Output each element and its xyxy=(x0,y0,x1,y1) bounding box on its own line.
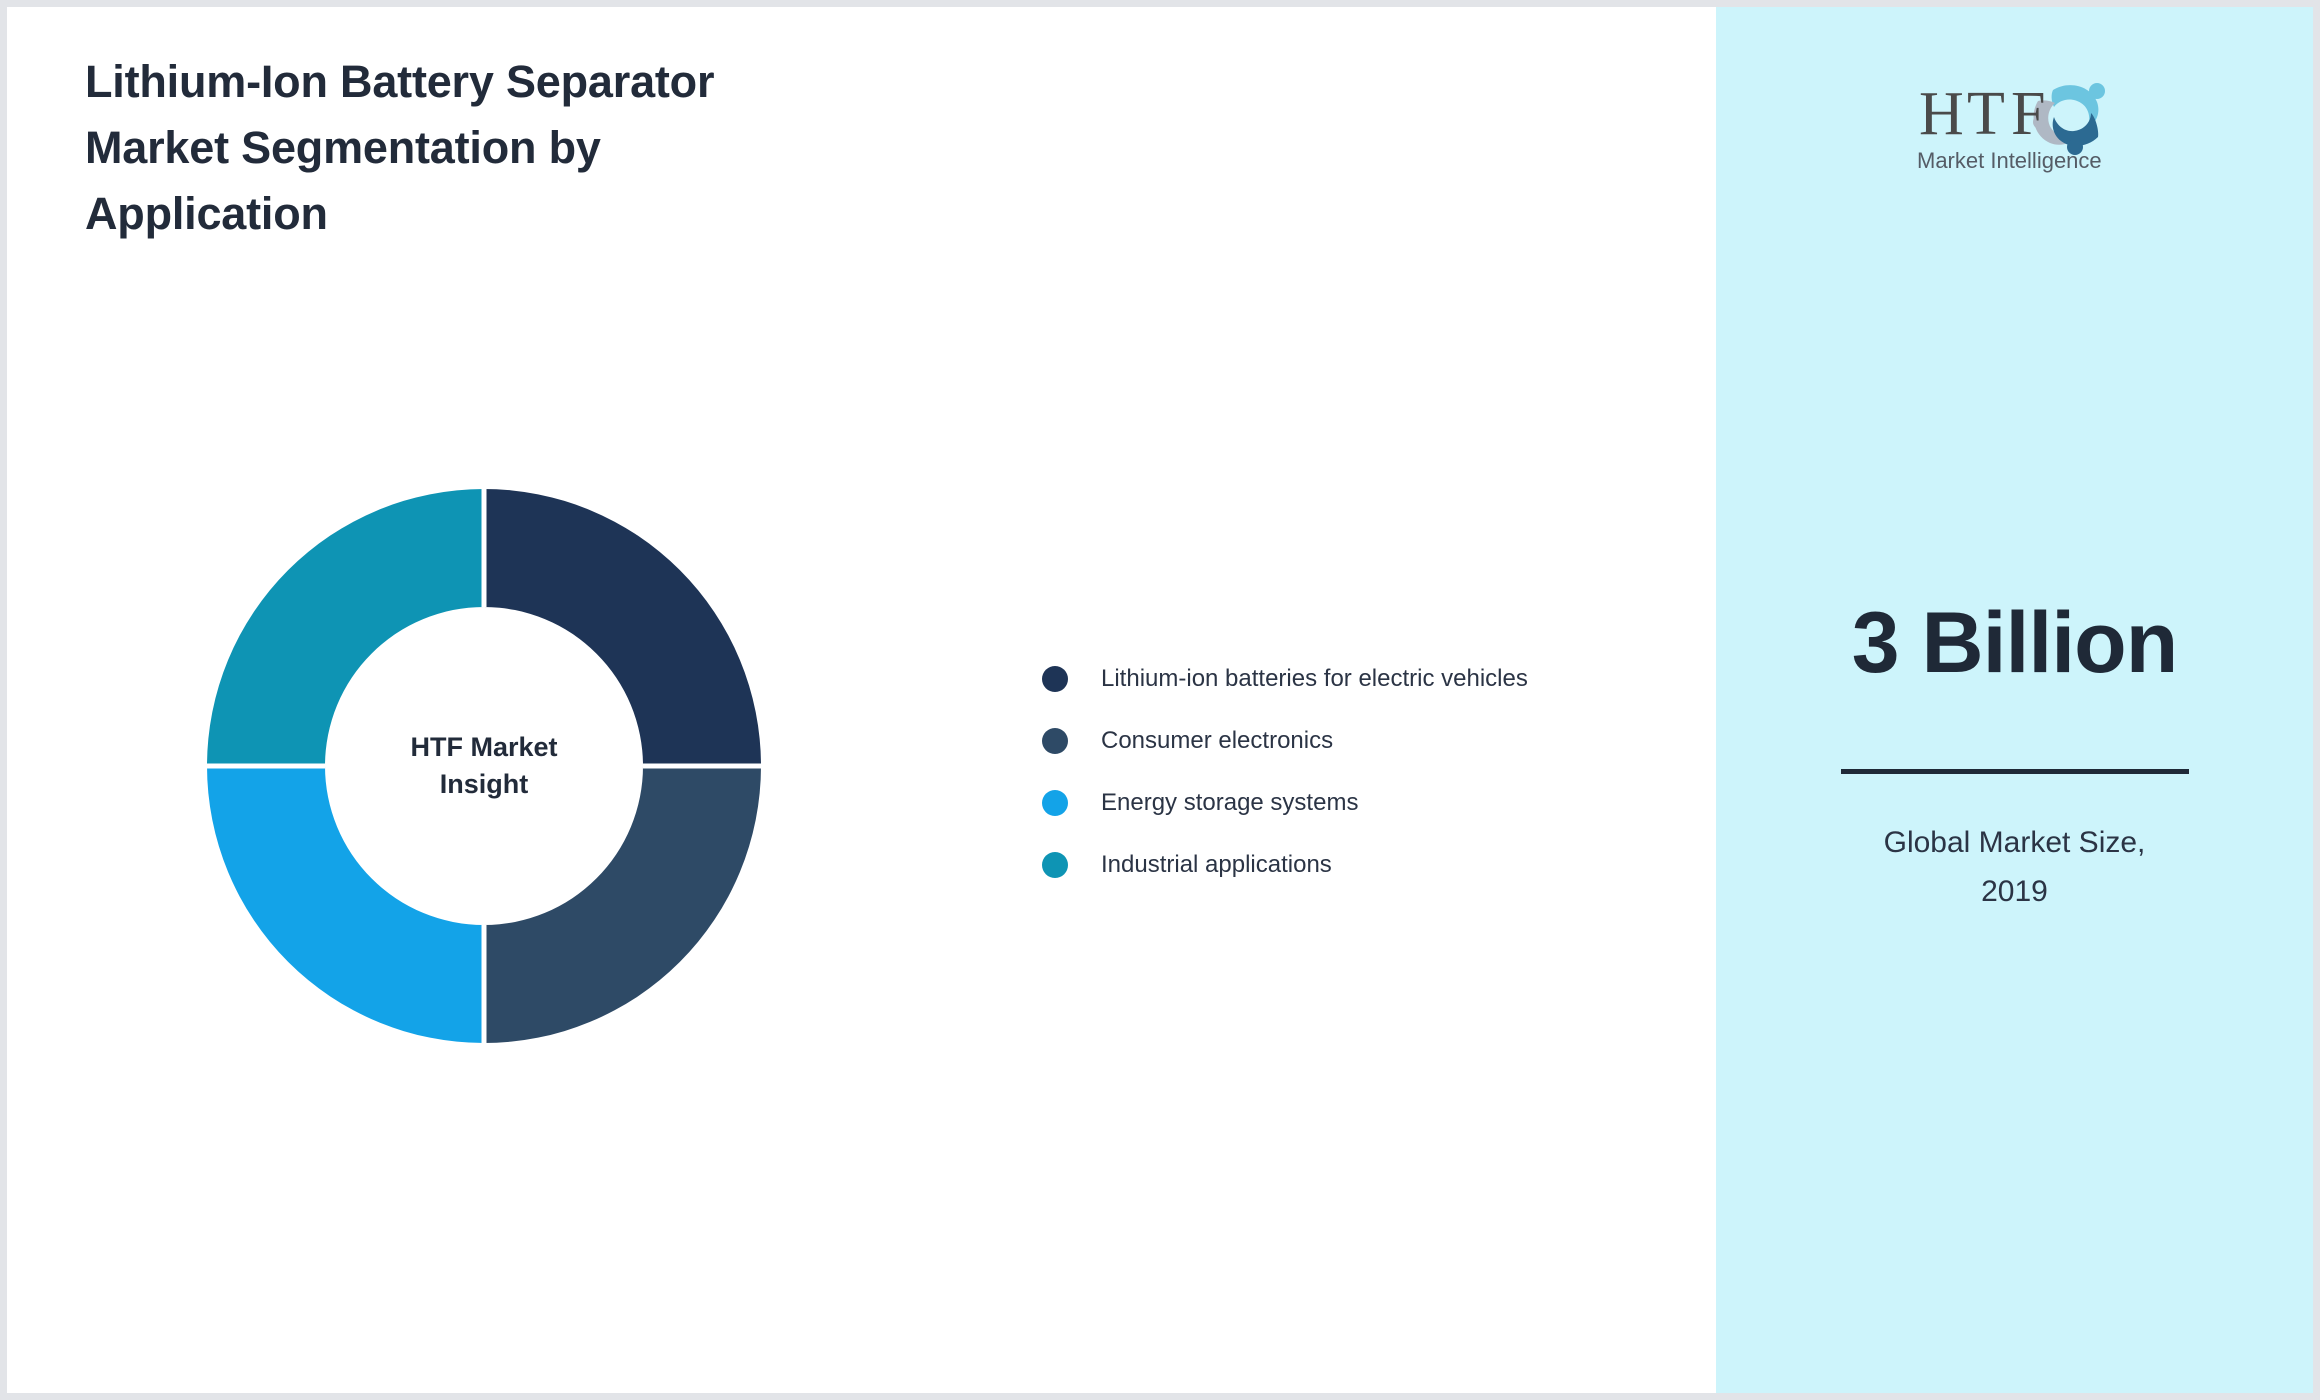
donut-chart-svg xyxy=(207,489,761,1043)
donut-slice-lithium-ion-batteries-for-electric-vehicles[interactable] xyxy=(484,489,761,766)
htf-logo-tagline: Market Intelligence xyxy=(1917,148,2102,173)
legend-item-energy-storage-systems[interactable]: Energy storage systems xyxy=(1042,772,1662,834)
right-stat-panel xyxy=(1716,7,2313,1393)
page-title-line-2: Market Segmentation by xyxy=(85,115,985,181)
infographic-canvas: Lithium-Ion Battery Separator Market Seg… xyxy=(0,0,2320,1400)
svg-text:H: H xyxy=(1919,80,1964,148)
donut-slice-consumer-electronics[interactable] xyxy=(484,766,761,1043)
stat-caption: Global Market Size, 2019 xyxy=(1766,818,2263,916)
legend-swatch-icon xyxy=(1042,728,1068,754)
legend-item-consumer-electronics[interactable]: Consumer electronics xyxy=(1042,710,1662,772)
stat-divider xyxy=(1841,769,2189,774)
legend-item-label: Lithium-ion batteries for electric vehic… xyxy=(1101,666,1528,692)
svg-text:F: F xyxy=(2011,80,2045,148)
svg-text:T: T xyxy=(1967,80,2005,148)
legend-swatch-icon xyxy=(1042,852,1068,878)
legend-item-label: Industrial applications xyxy=(1101,852,1332,878)
page-title: Lithium-Ion Battery Separator Market Seg… xyxy=(85,49,985,247)
htf-wordmark: H T F xyxy=(1919,80,2045,148)
headline-stat-value: 3 Billion xyxy=(1716,595,2313,691)
legend-item-label: Consumer electronics xyxy=(1101,728,1333,754)
chart-legend: Lithium-ion batteries for electric vehic… xyxy=(1042,648,1662,896)
legend-swatch-icon xyxy=(1042,666,1068,692)
donut-slice-industrial-applications[interactable] xyxy=(207,489,484,766)
legend-item-industrial-applications[interactable]: Industrial applications xyxy=(1042,834,1662,896)
htf-market-intelligence-logo: H T F Market Intelligence xyxy=(1905,52,2125,180)
stat-caption-line-2: 2019 xyxy=(1766,867,2263,916)
legend-swatch-icon xyxy=(1042,790,1068,816)
htf-logo-svg: H T F Market Intelligence xyxy=(1905,52,2125,180)
donut-chart: HTF Market Insight xyxy=(207,489,761,1043)
donut-slice-energy-storage-systems[interactable] xyxy=(207,766,484,1043)
legend-item-lithium-ion-batteries-for-electric-vehicles[interactable]: Lithium-ion batteries for electric vehic… xyxy=(1042,648,1662,710)
stat-caption-line-1: Global Market Size, xyxy=(1766,818,2263,867)
legend-item-label: Energy storage systems xyxy=(1101,790,1358,816)
page-title-line-1: Lithium-Ion Battery Separator xyxy=(85,49,985,115)
page-title-line-3: Application xyxy=(85,181,985,247)
